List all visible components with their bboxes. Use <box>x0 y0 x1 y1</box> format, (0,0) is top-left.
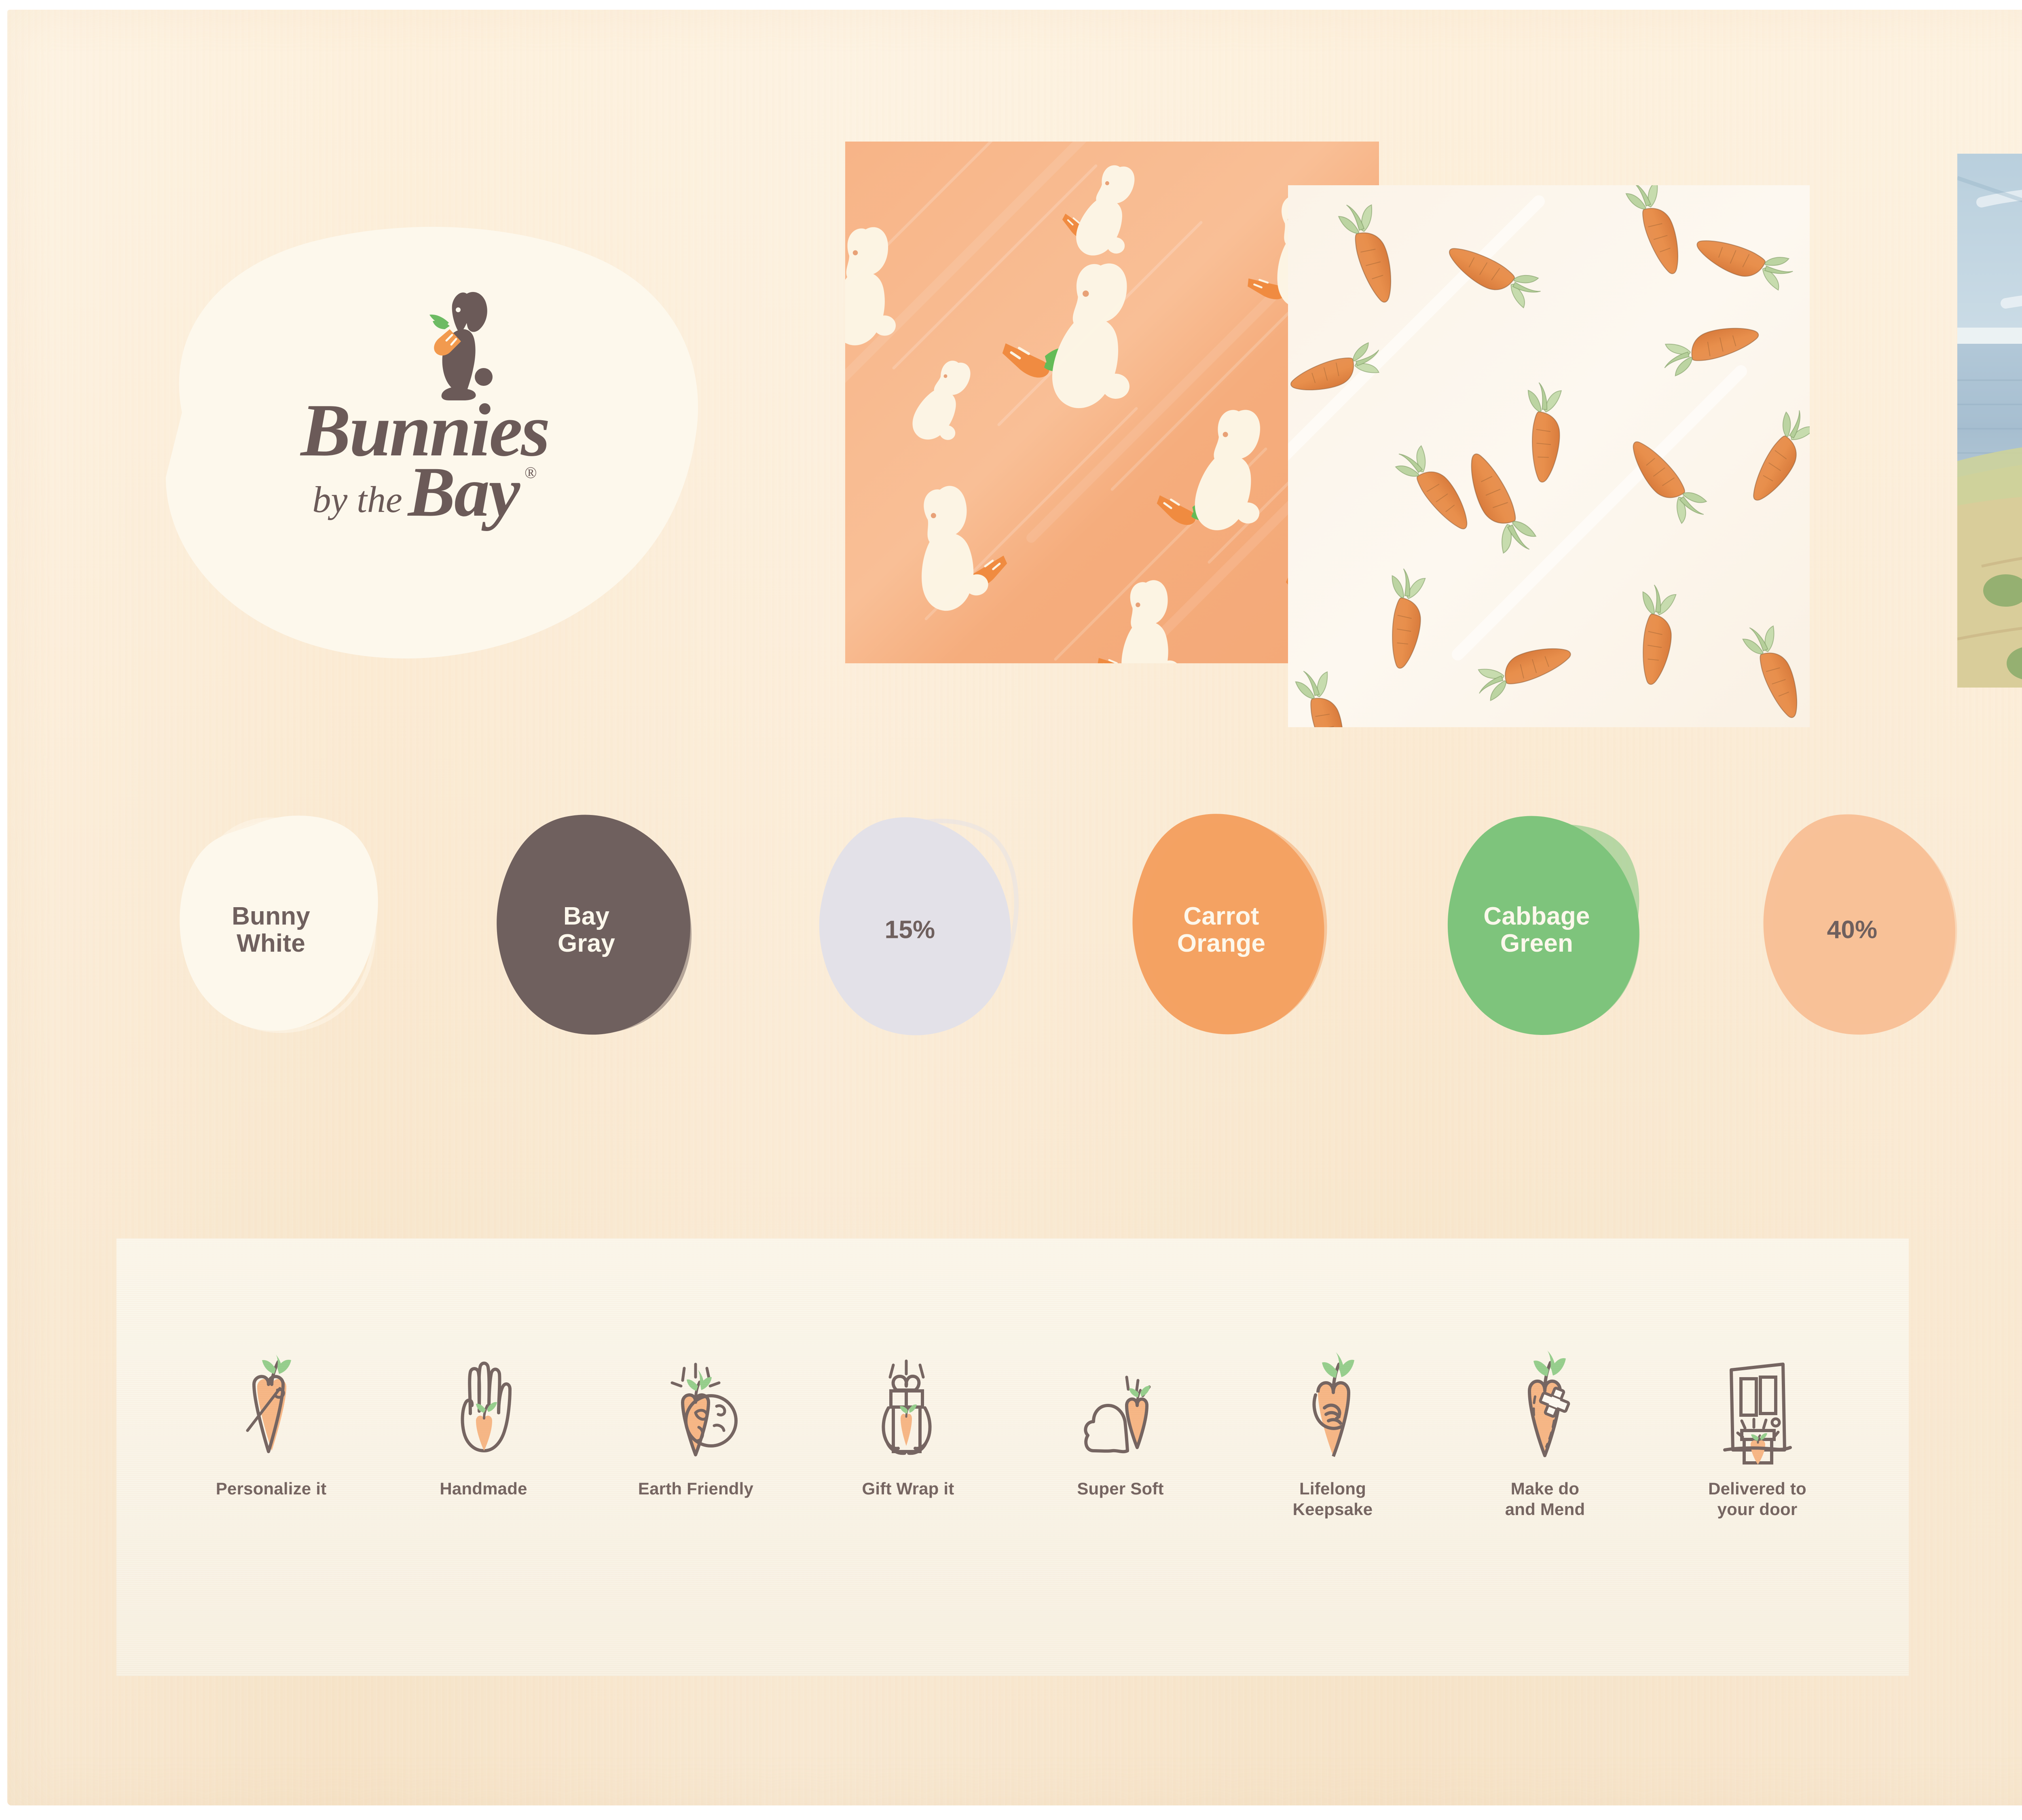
swatch-carrot-orange[interactable]: Carrot Orange <box>1072 789 1371 1072</box>
logo-wordmark-line2-small: by the <box>312 478 402 521</box>
seaside-carrot-field-illustration <box>1957 154 2022 688</box>
cloud-carrot-icon <box>1060 1325 1181 1459</box>
swatch-cabbage-green[interactable]: Cabbage Green <box>1387 789 1686 1072</box>
promise-delivered-to-your-door[interactable]: Delivered to your door <box>1651 1325 1863 1584</box>
swatch-bunny-white[interactable]: Bunny White <box>121 789 421 1072</box>
promise-earth-friendly[interactable]: Earth Friendly <box>590 1325 802 1584</box>
carrot-hug-icon <box>1272 1325 1394 1459</box>
promise-label: Make do and Mend <box>1505 1478 1585 1519</box>
promise-make-do-and-mend[interactable]: Make do and Mend <box>1439 1325 1651 1584</box>
promise-label: Delivered to your door <box>1708 1478 1806 1519</box>
promise-label: Gift Wrap it <box>862 1478 954 1499</box>
swatch-gray-15[interactable]: 15% <box>760 789 1060 1072</box>
door-carrot-icon <box>1697 1325 1818 1459</box>
swatch-bay-gray[interactable]: Bay Gray <box>437 789 736 1072</box>
promise-label: Earth Friendly <box>638 1478 753 1499</box>
color-palette-row: Bunny WhiteBay Gray15%Carrot OrangeCabba… <box>0 789 2022 1080</box>
promise-label: Personalize it <box>216 1478 327 1499</box>
promise-label: Handmade <box>440 1478 527 1499</box>
gift-box-carrot-icon <box>848 1325 969 1459</box>
promise-personalize-it[interactable]: Personalize it <box>165 1325 377 1584</box>
brand-style-guide-board: Bunnies by the Bay ® <box>0 0 2022 1820</box>
logo-wordmark-line2-big: Bay <box>408 464 519 521</box>
carrot-pattern-swatch <box>1288 185 1810 727</box>
brand-promise-strip: Personalize it <box>165 1325 1863 1584</box>
carrot-heart-needle-icon <box>211 1325 332 1459</box>
brand-promise-panel: Personalize it <box>116 1238 1909 1676</box>
logo-wordmark-line1: Bunnies <box>300 400 548 461</box>
promise-gift-wrap-it[interactable]: Gift Wrap it <box>802 1325 1014 1584</box>
hand-carrot-icon <box>423 1325 544 1459</box>
swatch-orange-40[interactable]: 40% <box>1703 789 2002 1072</box>
promise-super-soft[interactable]: Super Soft <box>1014 1325 1227 1584</box>
promise-handmade[interactable]: Handmade <box>377 1325 590 1584</box>
globe-carrot-icon <box>635 1325 757 1459</box>
swatch-green-40[interactable]: 40% <box>2014 789 2022 1072</box>
logo-inner: Bunnies by the Bay ® <box>222 287 627 607</box>
promise-lifelong-keepsake[interactable]: Lifelong Keepsake <box>1227 1325 1439 1584</box>
logo-lockup: Bunnies by the Bay ® <box>121 210 724 675</box>
carrot-patch-mend-icon <box>1485 1325 1606 1459</box>
promise-label: Super Soft <box>1077 1478 1163 1499</box>
registered-trademark-icon: ® <box>525 463 537 482</box>
promise-label: Lifelong Keepsake <box>1293 1478 1373 1519</box>
